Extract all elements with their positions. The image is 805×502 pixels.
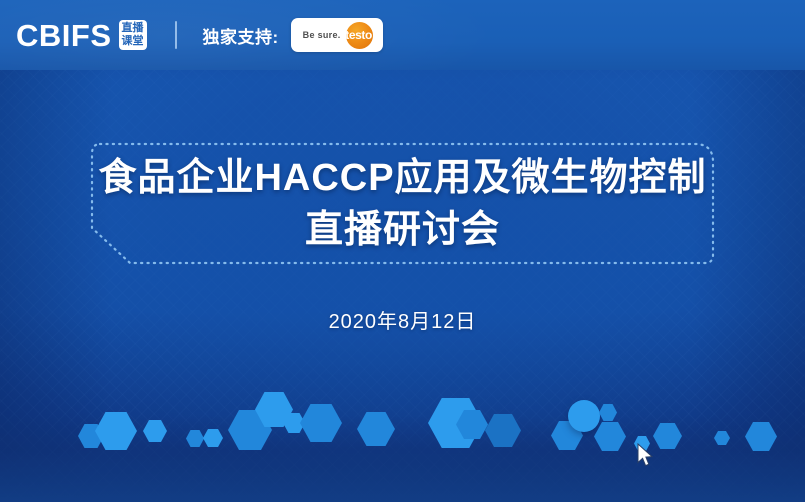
- vertical-divider-icon: [175, 21, 177, 49]
- header-bar: CBIFS 直播 课堂 独家支持: Be sure. testo: [0, 0, 805, 70]
- title-line-2: 直播研讨会: [0, 204, 805, 256]
- event-date: 2020年8月12日: [0, 305, 805, 334]
- title-line-1: 食品企业HACCP应用及微生物控制: [0, 152, 805, 204]
- brand-logo[interactable]: CBIFS 直播 课堂: [16, 20, 147, 51]
- brand-badge-line1: 直播: [122, 22, 144, 35]
- brand-badge-line2: 课堂: [122, 35, 144, 48]
- support-label: 独家支持:: [203, 23, 279, 48]
- sponsor-logo[interactable]: Be sure. testo: [291, 18, 383, 52]
- sponsor-name: testo: [345, 28, 372, 42]
- brand-wordmark: CBIFS: [16, 20, 112, 51]
- sponsor-dot-icon: testo: [346, 22, 373, 49]
- background-bottom-band: [0, 416, 805, 502]
- brand-badge: 直播 课堂: [119, 20, 147, 50]
- slide-canvas: CBIFS 直播 课堂 独家支持: Be sure. testo 食品企业HAC…: [0, 0, 805, 502]
- sponsor-tagline: Be sure.: [303, 30, 341, 40]
- page-title: 食品企业HACCP应用及微生物控制 直播研讨会: [0, 152, 805, 256]
